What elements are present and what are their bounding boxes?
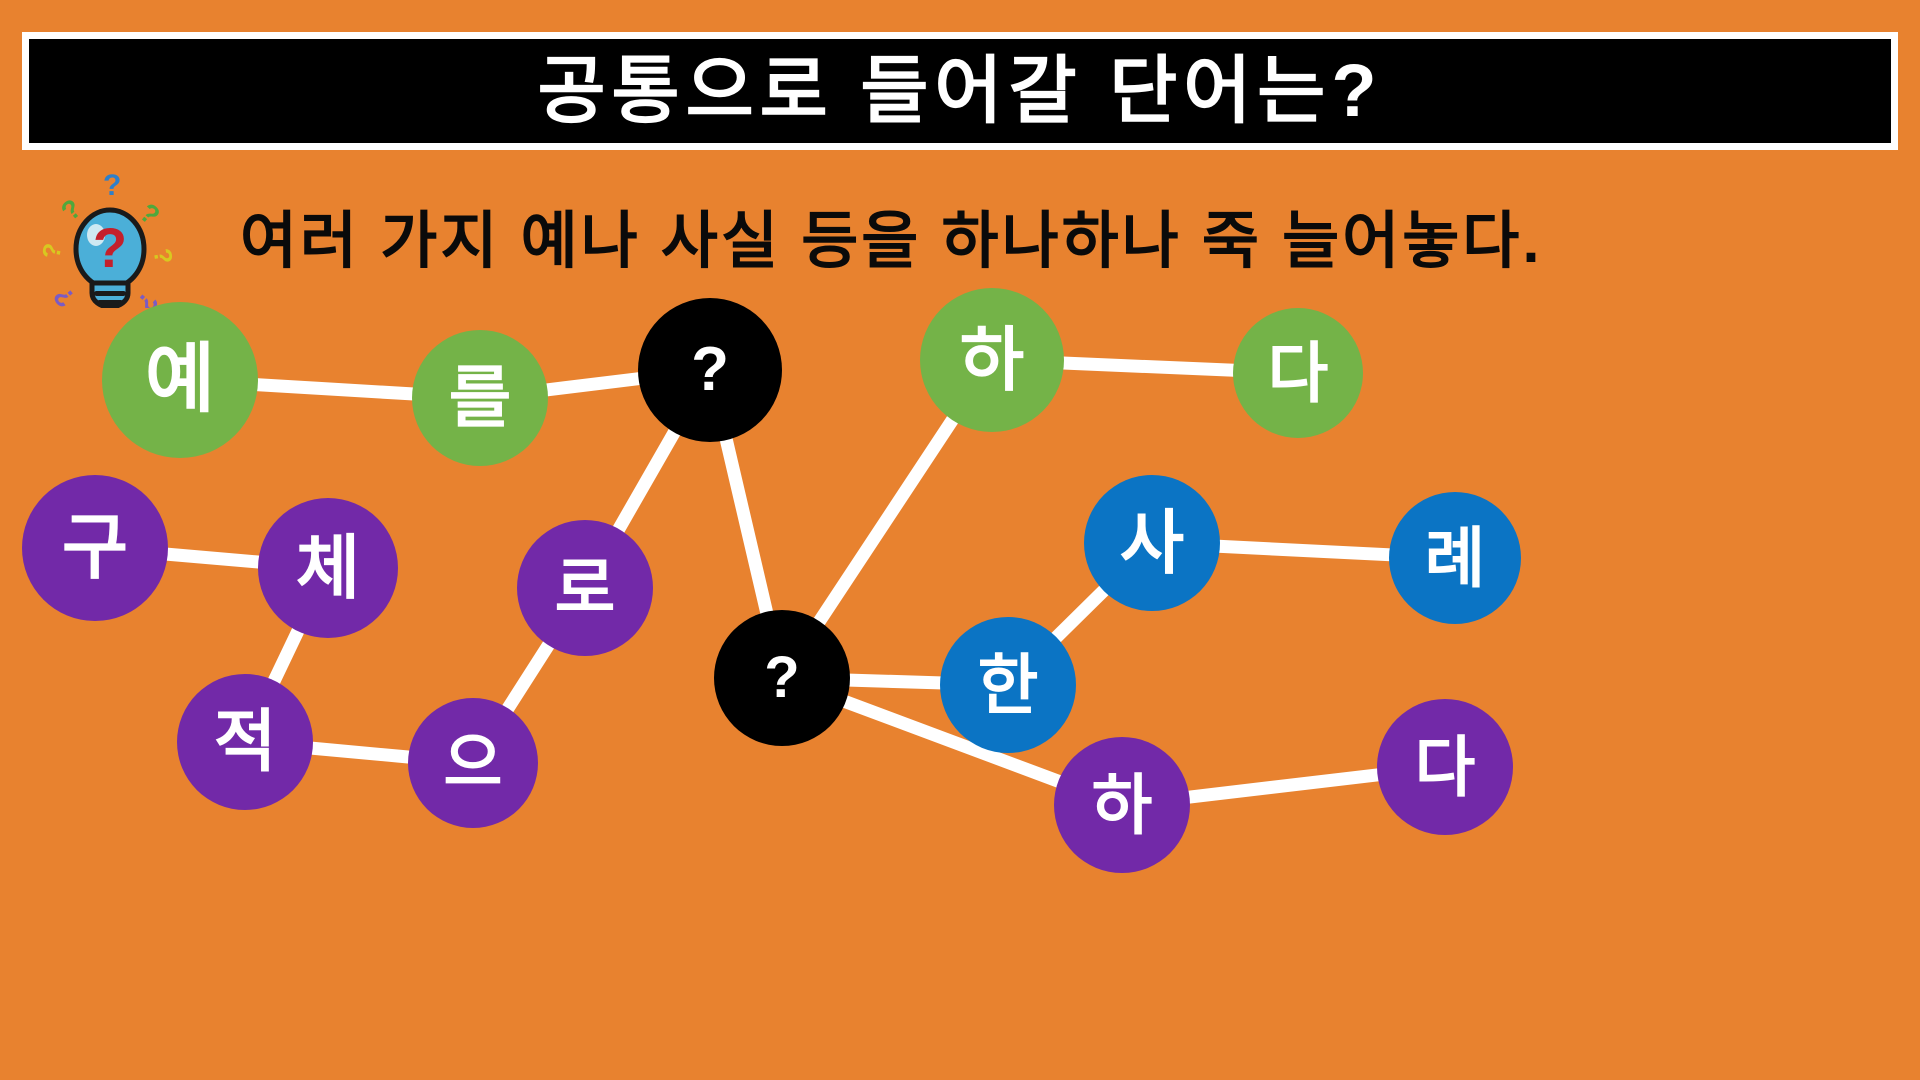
syllable-node-으[interactable]: 으 <box>408 698 538 828</box>
node-label: 다 <box>1268 340 1329 406</box>
node-label: 하 <box>960 325 1024 395</box>
node-label: 사 <box>1120 508 1184 578</box>
syllable-node-하[interactable]: 하 <box>920 288 1064 432</box>
syllable-node-적[interactable]: 적 <box>177 674 313 810</box>
syllable-node-를[interactable]: 를 <box>412 330 548 466</box>
syllable-node-다[interactable]: 다 <box>1233 308 1363 438</box>
svg-text:?: ? <box>103 169 121 202</box>
syllable-node-하[interactable]: 하 <box>1054 737 1190 873</box>
syllable-node-다[interactable]: 다 <box>1377 699 1513 835</box>
node-label: ? <box>691 339 729 401</box>
lightbulb-question-icon: ? ? ? ? ? ? ? ? <box>40 163 180 308</box>
node-label: 로 <box>555 555 616 621</box>
graph-edge <box>1054 588 1107 640</box>
node-label: 례 <box>1425 525 1486 591</box>
node-label: 하 <box>1092 772 1153 838</box>
title-banner: 공통으로 들어갈 단어는? <box>22 32 1898 150</box>
graph-edge <box>725 436 767 615</box>
graph-edge <box>309 748 413 758</box>
graph-edge <box>817 417 954 625</box>
node-label: 으 <box>444 731 503 795</box>
syllable-node-사[interactable]: 사 <box>1084 475 1220 611</box>
node-label: 체 <box>296 533 360 603</box>
node-label: 적 <box>214 708 277 776</box>
answer-node-q2[interactable]: ? <box>714 610 850 746</box>
node-label: 구 <box>62 512 128 584</box>
graph-edge <box>273 628 300 685</box>
syllable-node-구[interactable]: 구 <box>22 475 168 621</box>
clue-row: ? ? ? ? ? ? ? ? 여러 가지 예나 사실 등을 하나하나 죽 늘어… <box>40 160 1880 310</box>
graph-edge <box>164 554 262 562</box>
graph-edge <box>544 378 643 390</box>
graph-edge <box>1186 774 1382 797</box>
node-label: 다 <box>1415 734 1476 800</box>
answer-node-q1[interactable]: ? <box>638 298 782 442</box>
node-label: 한 <box>978 652 1039 718</box>
clue-text: 여러 가지 예나 사실 등을 하나하나 죽 늘어놓다. <box>240 190 1543 280</box>
syllable-node-체[interactable]: 체 <box>258 498 398 638</box>
graph-edge <box>1216 546 1393 555</box>
svg-text:?: ? <box>47 281 81 308</box>
graph-edge <box>617 429 676 532</box>
graph-edge <box>506 642 551 712</box>
graph-edge <box>1060 363 1237 371</box>
graph-edge <box>846 680 944 683</box>
syllable-node-례[interactable]: 례 <box>1389 492 1521 624</box>
svg-text:?: ? <box>40 241 67 261</box>
node-label: 예 <box>145 342 215 418</box>
puzzle-stage: 공통으로 들어갈 단어는? ? ? ? ? ? ? ? ? <box>0 0 1920 1080</box>
syllable-node-예[interactable]: 예 <box>102 302 258 458</box>
svg-text:?: ? <box>93 216 127 279</box>
syllable-node-로[interactable]: 로 <box>517 520 653 656</box>
node-label: ? <box>764 649 799 707</box>
svg-text:?: ? <box>147 246 177 266</box>
node-label: 를 <box>449 364 512 432</box>
graph-edge <box>254 384 416 394</box>
syllable-node-한[interactable]: 한 <box>940 617 1076 753</box>
page-title: 공통으로 들어갈 단어는? <box>537 54 1382 128</box>
